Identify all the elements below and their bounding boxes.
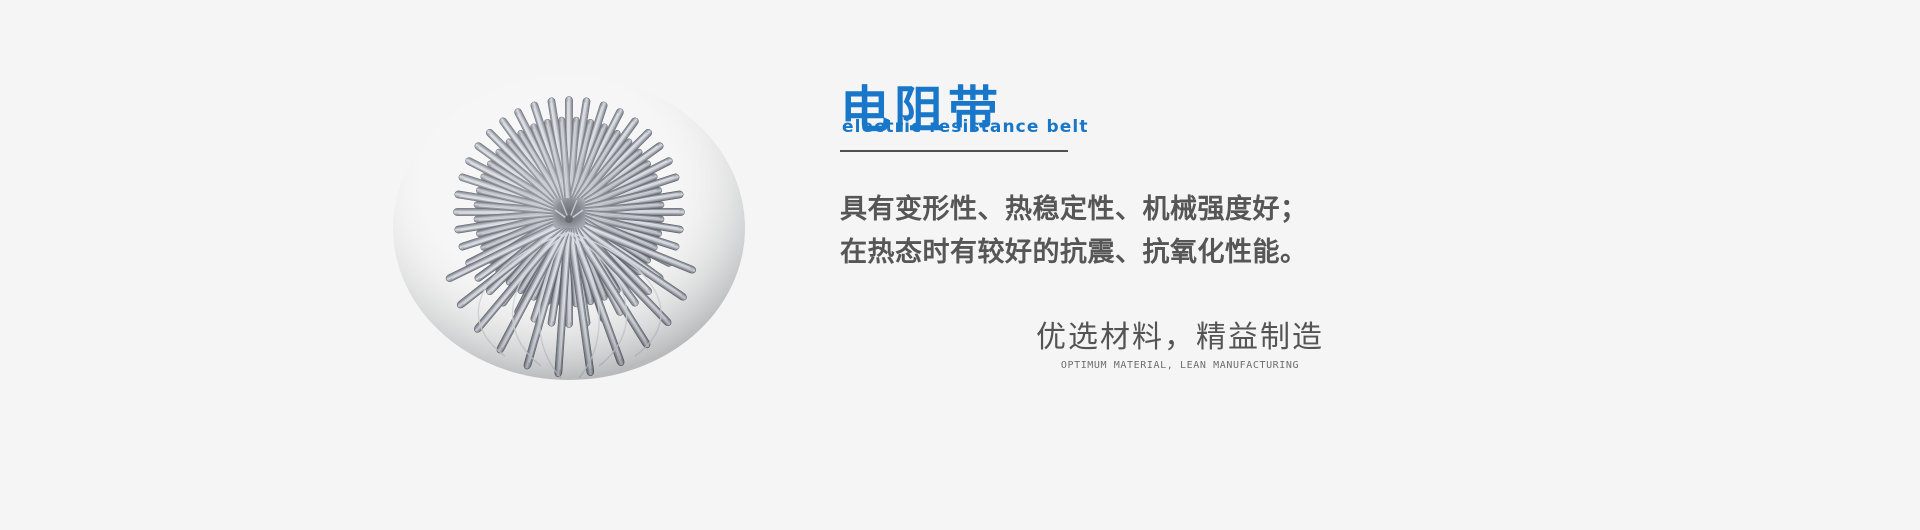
page-subtitle: electric resistance belt	[842, 116, 1089, 138]
product-image	[355, 60, 795, 420]
product-banner: 电阻带 electric resistance belt 具有变形性、热稳定性、…	[0, 0, 1920, 530]
product-shading	[393, 76, 745, 380]
copy-block: 电阻带 electric resistance belt 具有变形性、热稳定性、…	[840, 0, 1700, 530]
slogan-block: 优选材料，精益制造 OPTIMUM MATERIAL, LEAN MANUFAC…	[970, 318, 1390, 373]
description-line-1: 具有变形性、热稳定性、机械强度好；	[840, 188, 1480, 231]
title-divider	[840, 150, 1068, 152]
description-line-2: 在热态时有较好的抗震、抗氧化性能。	[840, 231, 1480, 274]
product-description: 具有变形性、热稳定性、机械强度好； 在热态时有较好的抗震、抗氧化性能。	[840, 188, 1480, 274]
slogan-en: OPTIMUM MATERIAL, LEAN MANUFACTURING	[970, 359, 1390, 373]
slogan-cn: 优选材料，精益制造	[970, 318, 1390, 358]
